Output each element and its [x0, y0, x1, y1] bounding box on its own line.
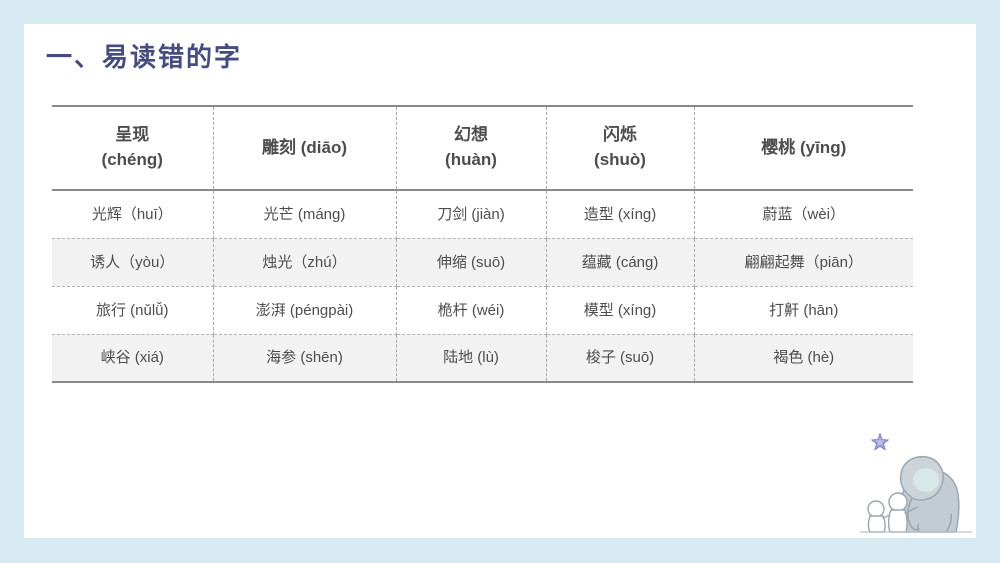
column-header-5: 樱桃 (yīng) [694, 106, 913, 190]
slide-canvas: 一、易读错的字 呈现 (chéng) 雕刻 (diāo) [0, 0, 1000, 563]
table-cell: 造型 (xíng) [546, 190, 694, 238]
table-cell: 刀剑 (jiàn) [396, 190, 546, 238]
column-header-5-line1: 樱桃 (yīng) [699, 136, 910, 161]
slide-content-panel: 一、易读错的字 呈现 (chéng) 雕刻 (diāo) [24, 24, 976, 538]
table-cell: 陆地 (lù) [396, 334, 546, 382]
table-row: 诱人（yòu） 烛光（zhú） 伸缩 (suō) 蕴藏 (cáng) 翩翩起舞（… [52, 238, 913, 286]
table-cell: 澎湃 (péngpài) [213, 286, 396, 334]
column-header-2: 雕刻 (diāo) [213, 106, 396, 190]
star-sparkle-icon [870, 432, 890, 452]
column-header-1-line1: 呈现 [56, 123, 209, 148]
table-header-row: 呈现 (chéng) 雕刻 (diāo) 幻想 (huàn) 闪烁 (shu [52, 106, 913, 190]
table-cell: 梭子 (suō) [546, 334, 694, 382]
table-cell: 光辉（huī） [52, 190, 213, 238]
table-cell: 蕴藏 (cáng) [546, 238, 694, 286]
table-cell: 桅杆 (wéi) [396, 286, 546, 334]
column-header-4-line1: 闪烁 [551, 123, 690, 148]
table-row: 旅行 (nǔlǚ) 澎湃 (péngpài) 桅杆 (wéi) 模型 (xíng… [52, 286, 913, 334]
page-title: 一、易读错的字 [46, 42, 242, 73]
table-body: 光辉（huī） 光芒 (máng) 刀剑 (jiàn) 造型 (xíng) 蔚蓝… [52, 190, 913, 382]
table-cell: 打鼾 (hān) [694, 286, 913, 334]
column-header-3-line2: (huàn) [401, 148, 542, 173]
column-header-4: 闪烁 (shuò) [546, 106, 694, 190]
table-cell: 光芒 (máng) [213, 190, 396, 238]
page-title-text: 一、易读错的字 [46, 42, 242, 73]
table-cell: 褐色 (hè) [694, 334, 913, 382]
column-header-2-line1: 雕刻 (diāo) [218, 136, 392, 161]
table-header: 呈现 (chéng) 雕刻 (diāo) 幻想 (huàn) 闪烁 (shu [52, 106, 913, 190]
table-cell: 翩翩起舞（piān） [694, 238, 913, 286]
table-row: 峡谷 (xiá) 海参 (shēn) 陆地 (lù) 梭子 (suō) 褐色 (… [52, 334, 913, 382]
elephant-illustration [846, 408, 976, 538]
word-table-container: 呈现 (chéng) 雕刻 (diāo) 幻想 (huàn) 闪烁 (shu [52, 105, 913, 383]
table-cell: 蔚蓝（wèi） [694, 190, 913, 238]
table-row: 光辉（huī） 光芒 (máng) 刀剑 (jiàn) 造型 (xíng) 蔚蓝… [52, 190, 913, 238]
table-cell: 海参 (shēn) [213, 334, 396, 382]
table-cell: 烛光（zhú） [213, 238, 396, 286]
table-cell: 伸缩 (suō) [396, 238, 546, 286]
table-cell: 模型 (xíng) [546, 286, 694, 334]
column-header-3: 幻想 (huàn) [396, 106, 546, 190]
easily-mispronounced-characters-table: 呈现 (chéng) 雕刻 (diāo) 幻想 (huàn) 闪烁 (shu [52, 105, 913, 383]
table-cell: 峡谷 (xiá) [52, 334, 213, 382]
table-cell: 旅行 (nǔlǚ) [52, 286, 213, 334]
column-header-1-line2: (chéng) [56, 148, 209, 173]
table-cell: 诱人（yòu） [52, 238, 213, 286]
column-header-4-line2: (shuò) [551, 148, 690, 173]
column-header-1: 呈现 (chéng) [52, 106, 213, 190]
column-header-3-line1: 幻想 [401, 123, 542, 148]
